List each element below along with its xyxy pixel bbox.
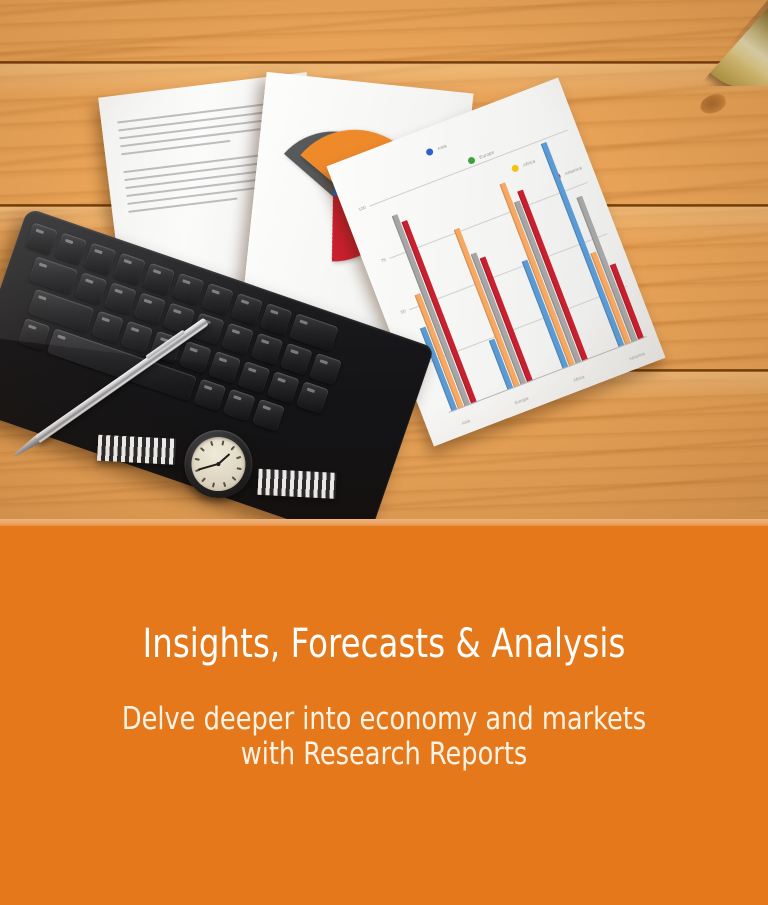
page-title: Insights, Forecasts & Analysis [38,624,729,664]
page-subtitle-line-1: Delve deeper into economy and markets [31,702,738,737]
keyboard-key [91,311,124,344]
plank-seam-1 [0,61,768,64]
keyboard-key [201,283,234,316]
bar [454,228,520,388]
keyboard-key [230,293,263,326]
keyboard-key [54,232,87,265]
caption-panel: Insights, Forecasts & Analysis Delve dee… [0,526,768,905]
y-axis-tick: 100 [350,205,367,215]
x-axis-tick: Europe [514,396,529,406]
keyboard-key [25,222,58,255]
page-subtitle: Delve deeper into economy and markets wi… [31,702,738,771]
watch-tick [213,482,216,487]
watch-case [178,424,259,505]
keyboard-key [208,351,241,384]
keyboard-key [250,333,283,366]
keyboard-key [296,381,329,414]
watch-band-right [257,469,336,499]
keyboard-key [280,343,313,376]
page-subtitle-line-2: with Research Reports [31,737,738,772]
watch-tick [200,447,205,451]
watch-tick [232,476,237,480]
hero-photo: Asia Europe Africa America [0,0,768,519]
x-axis-tick: America [628,351,645,362]
watch-tick [210,441,213,446]
keyboard-key [309,353,342,386]
keyboard-key-ctrl [17,318,50,351]
watch-tick [195,458,200,461]
watch-tick [236,456,241,459]
x-axis-tick: Africa [572,374,585,383]
photo-panel-divider [0,519,768,526]
watch-tick [237,467,242,470]
keyboard-key [237,361,270,394]
x-axis-tick: Asia [461,418,471,426]
watch-tick [222,440,225,445]
keyboard-key [133,292,166,325]
watch-tick [224,482,227,487]
keyboard-key [179,341,212,374]
watch-tick [202,478,206,483]
keyboard-key [259,303,292,336]
y-axis-tick: 50 [390,308,407,318]
y-axis-tick: 75 [370,257,387,267]
legend-dot-icon [467,156,476,165]
keyboard-key [172,273,205,306]
keyboard-key [267,371,300,404]
watch-dial [186,432,250,496]
keyboard-key [74,272,107,305]
keyboard-key [104,282,137,315]
keyboard-key [221,323,254,356]
research-reports-banner: Asia Europe Africa America [0,0,768,905]
keyboard-key [142,263,175,296]
watch-tick [231,446,235,451]
legend-dot-icon [425,147,434,156]
legend-label: Asia [437,143,448,151]
keyboard-key [113,253,146,286]
watch-center-pin [216,462,221,467]
watch-band-left [97,435,176,465]
keyboard-key [120,321,153,354]
keyboard-key [84,243,117,276]
